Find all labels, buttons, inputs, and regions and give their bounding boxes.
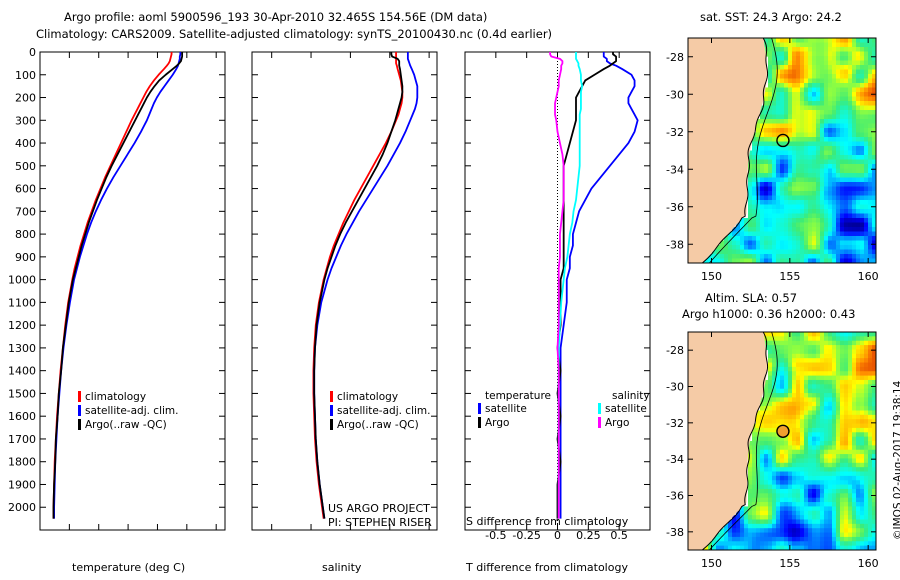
map-cell — [836, 432, 841, 437]
map-cell — [828, 354, 833, 359]
map-cell — [784, 511, 789, 516]
map-cell — [756, 502, 761, 507]
map-cell — [776, 506, 781, 511]
map-cell — [860, 389, 865, 394]
map-cell — [836, 182, 841, 187]
map-cell — [792, 173, 797, 178]
map-cell — [800, 415, 805, 420]
map-cell — [808, 97, 813, 102]
map-cell — [784, 92, 789, 97]
map-cell — [820, 506, 825, 511]
map-cell — [852, 38, 857, 43]
map-cell — [780, 209, 785, 214]
map-cell — [772, 458, 777, 463]
map-cell — [864, 363, 869, 368]
map-cell — [820, 489, 825, 494]
map-cell — [804, 142, 809, 147]
map-cell — [808, 463, 813, 468]
map-cell — [824, 410, 829, 415]
map-cell — [824, 498, 829, 503]
map-cell — [756, 537, 761, 542]
map-cell — [768, 541, 773, 546]
map-cell — [748, 187, 753, 192]
map-cell — [844, 528, 849, 533]
map-cell — [852, 119, 857, 124]
map-cell — [828, 533, 833, 538]
map-cell — [772, 146, 777, 151]
map-cell — [828, 467, 833, 472]
map-cell — [824, 70, 829, 75]
legend-item-label: satellite-adj. clim. — [85, 405, 178, 417]
map-cell — [848, 389, 853, 394]
map-cell — [848, 106, 853, 111]
map-cell — [804, 70, 809, 75]
map-cell — [840, 241, 845, 246]
map-cell — [812, 142, 817, 147]
map-cell — [776, 227, 781, 232]
map-cell — [832, 354, 837, 359]
map-cell — [856, 70, 861, 75]
map-cell — [788, 415, 793, 420]
map-cell — [820, 191, 825, 196]
map-cell — [864, 209, 869, 214]
map-cell — [812, 445, 817, 450]
map-cell — [788, 191, 793, 196]
map-cell — [824, 187, 829, 192]
map-cell — [812, 191, 817, 196]
map-cell — [828, 83, 833, 88]
map-cell — [728, 250, 733, 255]
map-cell — [780, 38, 785, 43]
map-cell — [844, 541, 849, 546]
map-cell — [840, 119, 845, 124]
map-cell — [796, 196, 801, 201]
map-cell — [848, 43, 853, 48]
map-cell — [812, 519, 817, 524]
map-cell — [792, 205, 797, 210]
map-cell — [848, 363, 853, 368]
map-cell — [808, 209, 813, 214]
map-cell — [764, 169, 769, 174]
map-cell — [812, 146, 817, 151]
map-cell — [792, 380, 797, 385]
map-cell — [808, 393, 813, 398]
map-cell — [736, 245, 741, 250]
map-cell — [864, 358, 869, 363]
map-cell — [776, 341, 781, 346]
map-cell — [796, 137, 801, 142]
map-cell — [804, 533, 809, 538]
map-cell — [780, 349, 785, 354]
map-cell — [844, 410, 849, 415]
map-cell — [848, 410, 853, 415]
map-cell — [856, 173, 861, 178]
map-cell — [860, 97, 865, 102]
map-cell — [808, 146, 813, 151]
map-cell — [788, 445, 793, 450]
map-cell — [804, 437, 809, 442]
map-cell — [808, 227, 813, 232]
map-cell — [744, 254, 749, 259]
map-cell — [780, 70, 785, 75]
map-cell — [860, 187, 865, 192]
map-cell — [816, 178, 821, 183]
map-cell — [772, 428, 777, 433]
map-cell — [852, 472, 857, 477]
map-cell — [848, 445, 853, 450]
map-cell — [844, 515, 849, 520]
map-cell — [848, 336, 853, 341]
map-cell — [804, 101, 809, 106]
map-cell — [864, 250, 869, 255]
map-cell — [752, 485, 757, 490]
map-cell — [780, 173, 785, 178]
map-cell — [828, 245, 833, 250]
map-cell — [844, 151, 849, 156]
map-cell — [760, 205, 765, 210]
map-cell — [780, 236, 785, 241]
map-cell — [864, 164, 869, 169]
map-cell — [840, 133, 845, 138]
map-cell — [768, 223, 773, 228]
map-cell — [840, 476, 845, 481]
sst-map-canvas[interactable]: 150155160-28-30-32-34-36-38 — [660, 28, 890, 293]
map-cell — [812, 406, 817, 411]
map-cell — [764, 415, 769, 420]
map-cell — [848, 250, 853, 255]
map-cell — [748, 173, 753, 178]
legend-color-swatch — [478, 417, 481, 428]
map-cell — [808, 38, 813, 43]
map-cell — [764, 524, 769, 529]
map-cell — [840, 424, 845, 429]
map-cell — [776, 214, 781, 219]
map-cell — [772, 410, 777, 415]
map-cell — [820, 515, 825, 520]
map-cell — [820, 511, 825, 516]
depth-tick-label: 200 — [15, 92, 36, 105]
map-cell — [860, 110, 865, 115]
map-cell — [840, 502, 845, 507]
map-cell — [772, 463, 777, 468]
map-cell — [796, 205, 801, 210]
map-cell — [836, 92, 841, 97]
map-cell — [836, 124, 841, 129]
map-cell — [776, 402, 781, 407]
map-cell — [784, 467, 789, 472]
map-cell — [860, 541, 865, 546]
map-cell — [780, 376, 785, 381]
map-cell — [812, 56, 817, 61]
map-cell — [816, 332, 821, 337]
map-cell — [852, 524, 857, 529]
map-cell — [740, 223, 745, 228]
map-cell — [812, 537, 817, 542]
map-cell — [832, 173, 837, 178]
map-cell — [808, 52, 813, 57]
map-cell — [772, 151, 777, 156]
depth-tick-label: 0 — [29, 46, 36, 59]
map-cell — [828, 133, 833, 138]
map-cell — [812, 164, 817, 169]
map-cell — [772, 178, 777, 183]
map-cell — [788, 419, 793, 424]
map-cell — [840, 79, 845, 84]
map-cell — [784, 349, 789, 354]
map-cell — [764, 441, 769, 446]
map-cell — [796, 367, 801, 372]
map-cell — [852, 61, 857, 66]
map-cell — [852, 245, 857, 250]
map-cell — [844, 480, 849, 485]
map-cell — [856, 363, 861, 368]
map-cell — [828, 363, 833, 368]
map-cell — [784, 241, 789, 246]
map-cell — [816, 445, 821, 450]
map-cell — [776, 393, 781, 398]
lat-tick-label: -38 — [666, 238, 684, 251]
map-cell — [800, 541, 805, 546]
map-cell — [784, 47, 789, 52]
map-cell — [844, 137, 849, 142]
map-cell — [800, 70, 805, 75]
map-cell — [796, 128, 801, 133]
map-cell — [820, 380, 825, 385]
map-cell — [860, 65, 865, 70]
map-cell — [756, 480, 761, 485]
map-cell — [816, 205, 821, 210]
map-cell — [868, 52, 873, 57]
map-cell — [836, 480, 841, 485]
map-cell — [860, 336, 865, 341]
map-cell — [804, 367, 809, 372]
map-cell — [760, 137, 765, 142]
map-cell — [856, 472, 861, 477]
map-cell — [784, 74, 789, 79]
map-cell — [800, 524, 805, 529]
map-cell — [868, 142, 873, 147]
map-cell — [772, 354, 777, 359]
map-cell — [848, 227, 853, 232]
map-cell — [824, 354, 829, 359]
map-cell — [836, 200, 841, 205]
map-cell — [808, 389, 813, 394]
map-cell — [864, 349, 869, 354]
map-cell — [836, 133, 841, 138]
map-cell — [820, 79, 825, 84]
map-cell — [772, 110, 777, 115]
map-cell — [824, 363, 829, 368]
map-cell — [768, 88, 773, 93]
map-cell — [836, 472, 841, 477]
map-cell — [820, 106, 825, 111]
map-cell — [764, 458, 769, 463]
map-cell — [840, 209, 845, 214]
map-cell — [772, 245, 777, 250]
map-cell — [768, 384, 773, 389]
map-cell — [768, 241, 773, 246]
map-cell — [768, 155, 773, 160]
map-cell — [860, 480, 865, 485]
map-cell — [864, 493, 869, 498]
map-cell — [792, 345, 797, 350]
map-cell — [820, 358, 825, 363]
map-cell — [784, 245, 789, 250]
map-cell — [868, 480, 873, 485]
map-cell — [844, 524, 849, 529]
map-cell — [800, 200, 805, 205]
map-cell — [820, 528, 825, 533]
map-cell — [780, 245, 785, 250]
map-cell — [836, 476, 841, 481]
map-cell — [808, 196, 813, 201]
map-cell — [860, 367, 865, 372]
map-cell — [860, 519, 865, 524]
map-cell — [756, 519, 761, 524]
map-cell — [864, 160, 869, 165]
map-cell — [824, 406, 829, 411]
map-cell — [808, 92, 813, 97]
map-cell — [792, 92, 797, 97]
map-cell — [828, 389, 833, 394]
map-cell — [796, 493, 801, 498]
map-cell — [804, 178, 809, 183]
map-cell — [744, 236, 749, 241]
map-cell — [804, 432, 809, 437]
map-cell — [768, 419, 773, 424]
map-cell — [816, 502, 821, 507]
map-cell — [860, 214, 865, 219]
map-cell — [820, 74, 825, 79]
map-cell — [796, 106, 801, 111]
sst-map-title: sat. SST: 24.3 Argo: 24.2 — [700, 10, 842, 24]
map-cell — [856, 191, 861, 196]
map-cell — [840, 441, 845, 446]
map-cell — [816, 137, 821, 142]
map-cell — [868, 164, 873, 169]
map-cell — [832, 115, 837, 120]
map-cell — [772, 432, 777, 437]
map-cell — [772, 528, 777, 533]
map-cell — [800, 232, 805, 237]
map-cell — [804, 173, 809, 178]
map-cell — [824, 336, 829, 341]
map-cell — [784, 65, 789, 70]
map-cell — [836, 341, 841, 346]
map-cell — [784, 367, 789, 372]
map-cell — [768, 52, 773, 57]
map-cell — [792, 541, 797, 546]
map-cell — [804, 236, 809, 241]
map-cell — [816, 106, 821, 111]
map-cell — [768, 415, 773, 420]
map-cell — [788, 128, 793, 133]
map-cell — [868, 445, 873, 450]
map-cell — [856, 214, 861, 219]
map-cell — [728, 245, 733, 250]
map-cell — [752, 218, 757, 223]
map-cell — [868, 402, 873, 407]
map-cell — [868, 441, 873, 446]
map-cell — [836, 485, 841, 490]
map-cell — [816, 393, 821, 398]
map-cell — [816, 218, 821, 223]
map-cell — [796, 223, 801, 228]
map-cell — [848, 533, 853, 538]
map-cell — [752, 489, 757, 494]
map-cell — [860, 223, 865, 228]
map-cell — [864, 419, 869, 424]
map-cell — [756, 419, 761, 424]
map-cell — [828, 191, 833, 196]
map-cell — [816, 489, 821, 494]
map-cell — [836, 406, 841, 411]
map-cell — [820, 83, 825, 88]
map-cell — [824, 227, 829, 232]
map-cell — [832, 450, 837, 455]
map-cell — [808, 467, 813, 472]
sla-map-canvas[interactable]: 150155160-28-30-32-34-36-38 — [660, 322, 890, 580]
map-cell — [836, 454, 841, 459]
map-cell — [828, 511, 833, 516]
map-cell — [780, 419, 785, 424]
map-cell — [856, 223, 861, 228]
map-cell — [748, 511, 753, 516]
map-cell — [820, 250, 825, 255]
map-cell — [776, 437, 781, 442]
map-cell — [856, 65, 861, 70]
map-cell — [748, 485, 753, 490]
map-cell — [768, 441, 773, 446]
map-cell — [808, 415, 813, 420]
map-cell — [764, 428, 769, 433]
map-cell — [840, 232, 845, 237]
map-cell — [788, 511, 793, 516]
map-cell — [796, 515, 801, 520]
map-cell — [856, 432, 861, 437]
map-cell — [792, 191, 797, 196]
map-cell — [812, 151, 817, 156]
depth-tick-label: 1500 — [8, 387, 36, 400]
map-cell — [752, 164, 757, 169]
map-cell — [800, 38, 805, 43]
map-cell — [832, 124, 837, 129]
map-cell — [840, 445, 845, 450]
profile-location-marker[interactable] — [777, 425, 789, 437]
map-cell — [844, 341, 849, 346]
map-cell — [788, 110, 793, 115]
map-cell — [844, 476, 849, 481]
map-cell — [784, 354, 789, 359]
map-cell — [804, 393, 809, 398]
map-cell — [756, 528, 761, 533]
map-cell — [824, 236, 829, 241]
map-cell — [844, 119, 849, 124]
map-cell — [864, 47, 869, 52]
map-cell — [856, 101, 861, 106]
map-cell — [840, 480, 845, 485]
map-cell — [812, 437, 817, 442]
map-cell — [804, 480, 809, 485]
map-cell — [808, 537, 813, 542]
map-cell — [812, 70, 817, 75]
temperature-xaxis-label: temperature (deg C) — [72, 561, 185, 574]
map-cell — [776, 406, 781, 411]
map-cell — [812, 214, 817, 219]
map-cell — [832, 223, 837, 228]
map-cell — [852, 476, 857, 481]
map-cell — [840, 528, 845, 533]
